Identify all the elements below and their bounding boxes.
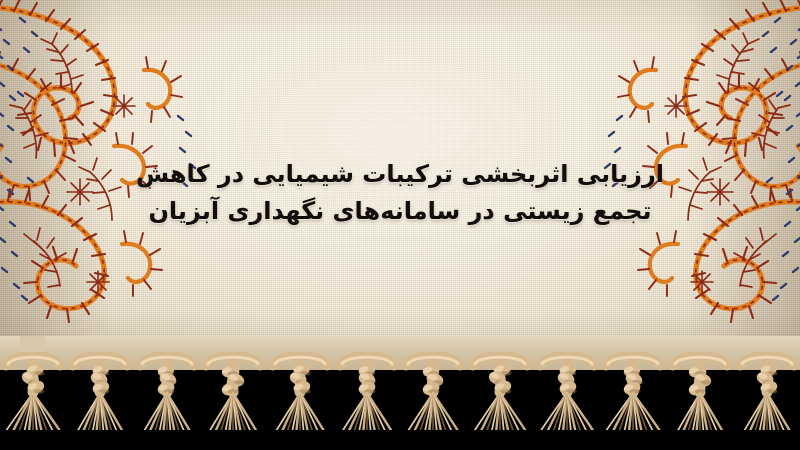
fabric-panel xyxy=(0,0,800,368)
title-slide: ارزیابی اثربخشی ترکیبات شیمیایی در کاهش … xyxy=(0,0,800,450)
backdrop-black xyxy=(0,430,800,450)
